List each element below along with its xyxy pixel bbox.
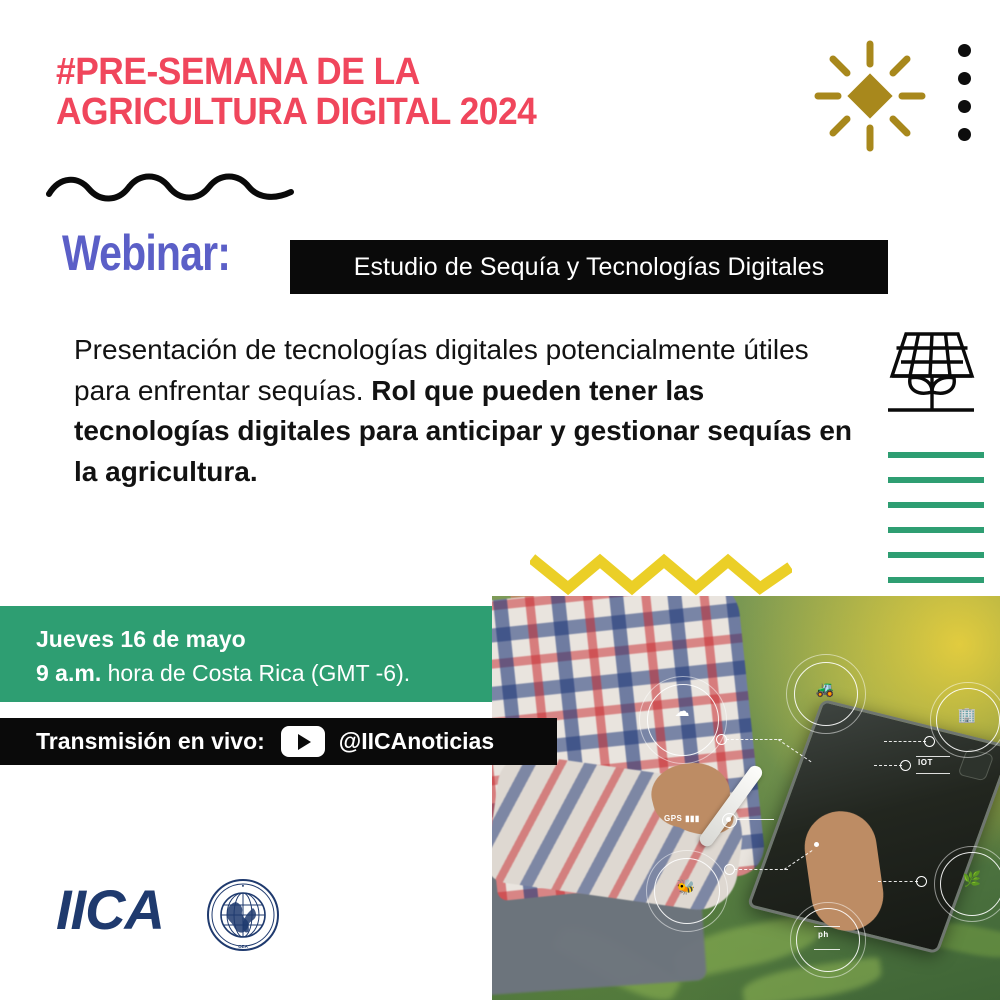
- event-timezone: hora de Costa Rica (GMT -6).: [101, 660, 410, 686]
- farmer-tablet-field-photo: ☁ 🚜 🏢 IOT GPS ▮▮▮: [492, 596, 1000, 1000]
- wavy-line-icon: [46, 168, 298, 202]
- ladybug-icon: 🐝: [672, 880, 700, 895]
- four-dots-icon: [958, 44, 974, 148]
- cloud-rain-icon: ☁: [664, 704, 700, 719]
- seed-icon: 🌿: [960, 872, 984, 887]
- iica-globe-seal: ● OEA: [206, 878, 280, 952]
- date-band: Jueves 16 de mayo 9 a.m. hora de Costa R…: [0, 606, 492, 702]
- sunburst-icon: [812, 38, 928, 154]
- poster-canvas: #PRE-SEMANA DE LA AGRICULTURA DIGITAL 20…: [0, 0, 1000, 1000]
- hud-tag-iot: IOT: [918, 758, 933, 767]
- tractor-icon: 🚜: [810, 682, 840, 697]
- svg-text:OEA: OEA: [238, 944, 248, 949]
- tech-hud-overlay: ☁ 🚜 🏢 IOT GPS ▮▮▮: [492, 596, 1000, 1000]
- iica-wordmark: IICA: [56, 882, 164, 938]
- headline-line-2: AGRICULTURA DIGITAL 2024: [56, 92, 540, 132]
- windmill-farm-icon: 🏢: [952, 708, 982, 723]
- description-text: Presentación de tecnologías digitales po…: [74, 330, 864, 492]
- svg-text:●: ●: [242, 883, 245, 888]
- webinar-label: Webinar:: [62, 228, 230, 278]
- youtube-handle[interactable]: @IICAnoticias: [339, 728, 494, 755]
- live-stream-band: Transmisión en vivo: @IICAnoticias: [0, 718, 557, 765]
- hud-tag-gps: GPS ▮▮▮: [664, 814, 700, 823]
- live-stream-label: Transmisión en vivo:: [36, 728, 265, 755]
- page-title: #PRE-SEMANA DE LA AGRICULTURA DIGITAL 20…: [56, 52, 540, 133]
- webinar-title: Estudio de Sequía y Tecnologías Digitale…: [354, 253, 825, 282]
- event-date: Jueves 16 de mayo: [36, 626, 246, 653]
- hud-tag-ph: ph: [818, 930, 829, 939]
- solar-panel-plant-icon: [880, 326, 980, 418]
- iica-logo: IICA ● OEA: [56, 876, 288, 954]
- youtube-play-icon[interactable]: [281, 726, 325, 757]
- event-time-value: 9 a.m.: [36, 660, 101, 686]
- yellow-zigzag-icon: [530, 548, 792, 596]
- headline-line-1: #PRE-SEMANA DE LA: [56, 51, 420, 93]
- webinar-title-bar: Estudio de Sequía y Tecnologías Digitale…: [290, 240, 888, 294]
- event-time: 9 a.m. hora de Costa Rica (GMT -6).: [36, 660, 410, 687]
